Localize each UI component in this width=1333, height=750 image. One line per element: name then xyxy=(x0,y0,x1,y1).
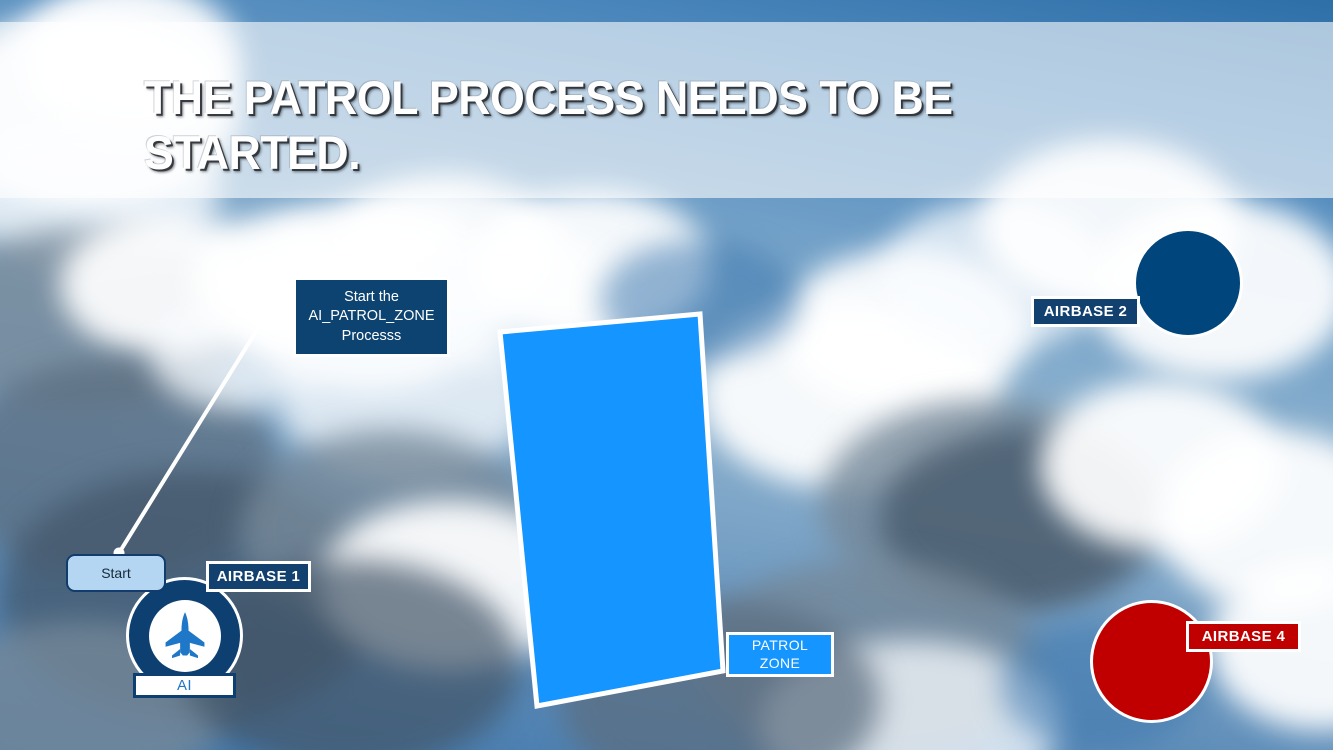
airbase-4-circle[interactable] xyxy=(1090,600,1213,723)
patrol-zone-label-line1: PATROL xyxy=(752,637,808,655)
airbase-1-label[interactable]: AIRBASE 1 xyxy=(206,561,311,592)
start-button[interactable]: Start xyxy=(66,554,166,592)
airbase-2-circle[interactable] xyxy=(1133,228,1243,338)
start-process-callout[interactable]: Start the AI_PATROL_ZONE Processs xyxy=(293,277,450,357)
patrol-zone-label[interactable]: PATROL ZONE xyxy=(726,632,834,677)
ai-icon-disc xyxy=(149,600,221,672)
airbase-2-label[interactable]: AIRBASE 2 xyxy=(1031,296,1140,327)
title-band: THE PATROL PROCESS NEEDS TO BE STARTED. xyxy=(0,22,1333,198)
patrol-zone-label-line2: ZONE xyxy=(760,655,801,673)
airbase-4-label[interactable]: AIRBASE 4 xyxy=(1186,621,1301,652)
fighter-jet-icon xyxy=(158,609,212,663)
ai-node-label[interactable]: AI xyxy=(133,673,236,698)
slide-canvas: THE PATROL PROCESS NEEDS TO BE STARTED. … xyxy=(0,0,1333,750)
page-title: THE PATROL PROCESS NEEDS TO BE STARTED. xyxy=(144,70,1094,181)
